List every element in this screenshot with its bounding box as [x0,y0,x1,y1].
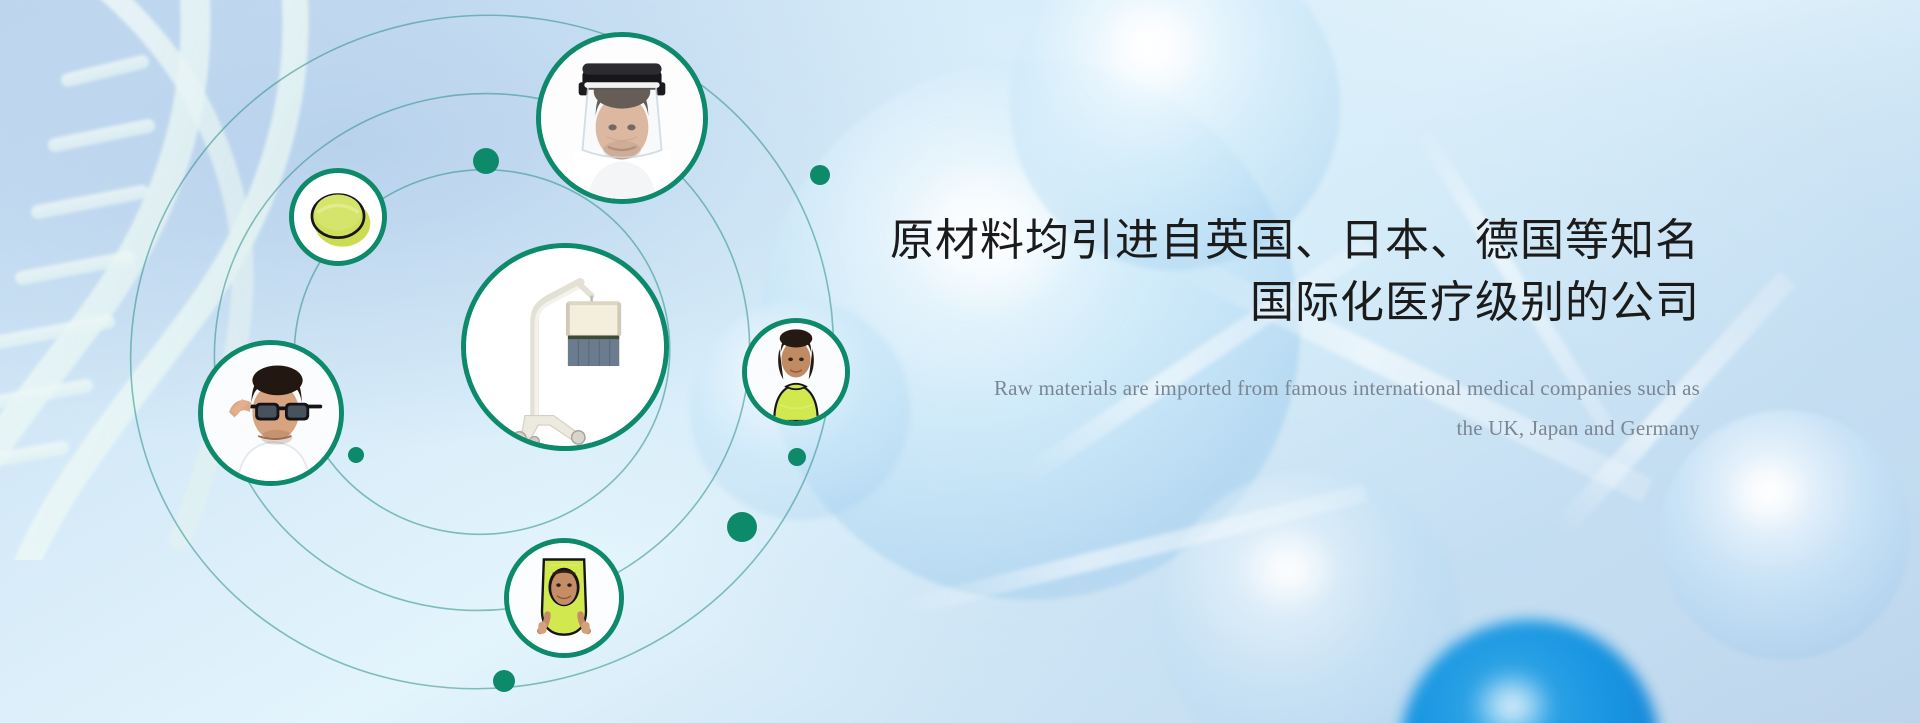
thyroid-collar-photo-icon [747,318,845,426]
bubble-face-shield[interactable] [536,32,708,204]
headline-line-2: 国际化医疗级别的公司 [860,272,1700,334]
face-shield-photo-icon [541,32,703,204]
subheadline: Raw materials are imported from famous i… [860,368,1700,448]
bubble-thyroid-collar[interactable] [742,318,850,426]
x-ray-barrier-photo-icon [466,243,664,451]
hero-banner: 原材料均引进自英国、日本、德国等知名 国际化医疗级别的公司 Raw materi… [0,0,1920,723]
lead-cap-photo-icon [294,168,382,266]
orbit-dot [788,448,806,466]
headline-line-1: 原材料均引进自英国、日本、德国等知名 [890,216,1700,265]
bubble-lead-glasses[interactable] [198,340,344,486]
orbit-dot [493,670,515,692]
subheadline-line-2: the UK, Japan and Germany [1456,416,1700,440]
orbit-dot [727,512,757,542]
orbit-dot [473,148,499,174]
bubble-mobile-x-ray-barrier[interactable] [461,243,669,451]
orbit-dot [810,165,830,185]
subheadline-line-1: Raw materials are imported from famous i… [994,376,1700,400]
lead-glasses-photo-icon [203,340,339,486]
banner-copy: 原材料均引进自英国、日本、德国等知名 国际化医疗级别的公司 Raw materi… [860,210,1700,448]
orbit-dot [348,447,364,463]
bubble-lead-hood[interactable] [504,538,624,658]
headline: 原材料均引进自英国、日本、德国等知名 国际化医疗级别的公司 [860,210,1700,334]
bubble-lead-cap[interactable] [289,168,387,266]
lead-hood-photo-icon [509,538,619,658]
